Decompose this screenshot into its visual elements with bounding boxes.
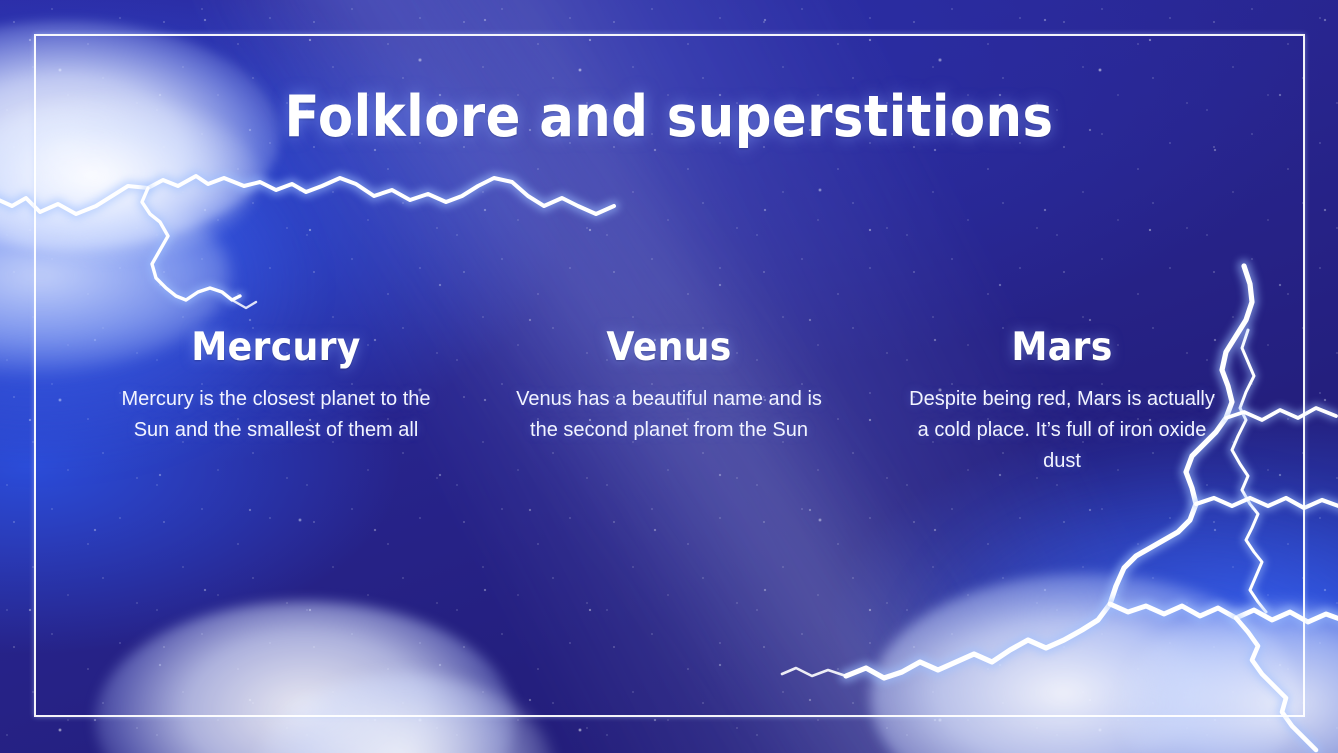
- page-title: Folklore and superstitions: [67, 84, 1271, 150]
- column-body-mercury: Mercury is the closest planet to the Sun…: [116, 384, 436, 446]
- planet-columns: Mercury Mercury is the closest planet to…: [116, 325, 1222, 477]
- column-heading-mars: Mars: [913, 325, 1211, 370]
- slide-canvas: Folklore and superstitions Mercury Mercu…: [0, 0, 1338, 753]
- column-venus: Venus Venus has a beautiful name and is …: [509, 325, 829, 477]
- column-body-venus: Venus has a beautiful name and is the se…: [509, 384, 829, 446]
- column-body-mars: Despite being red, Mars is actually a co…: [902, 384, 1222, 477]
- column-mars: Mars Despite being red, Mars is actually…: [902, 325, 1222, 477]
- column-mercury: Mercury Mercury is the closest planet to…: [116, 325, 436, 477]
- column-heading-venus: Venus: [520, 325, 818, 370]
- column-heading-mercury: Mercury: [127, 325, 425, 370]
- slide-content: Folklore and superstitions Mercury Mercu…: [0, 0, 1338, 753]
